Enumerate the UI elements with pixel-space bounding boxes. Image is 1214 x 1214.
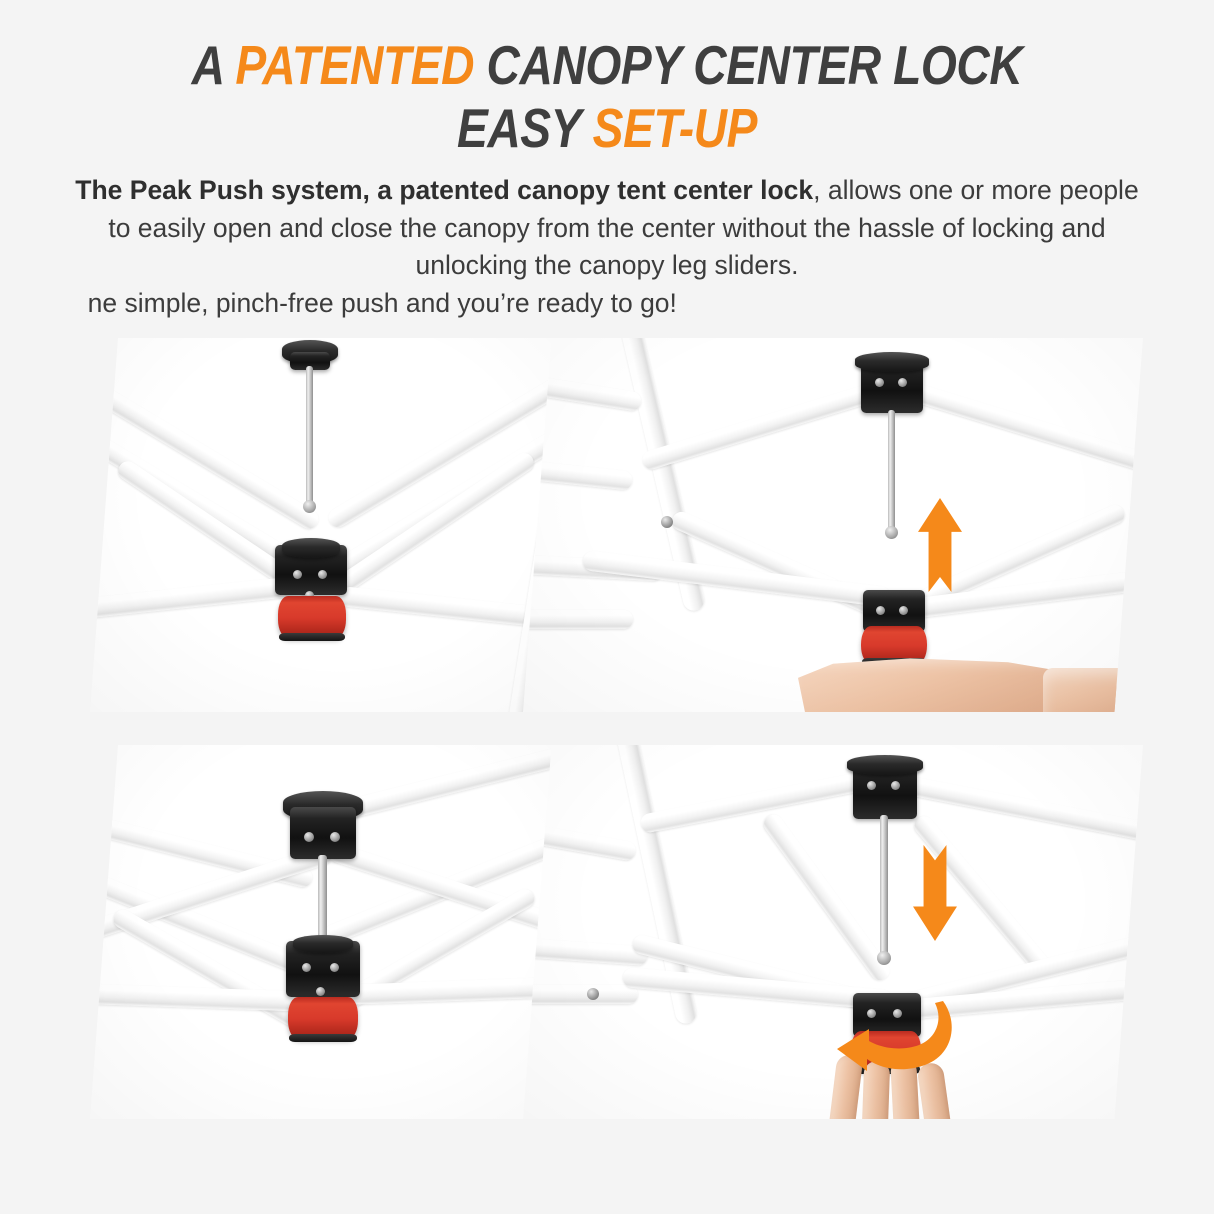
hand-wrist	[1043, 668, 1143, 712]
frame-tube	[90, 983, 305, 1012]
page-title: A PATENTED CANOPY CENTER LOCK EASY SET-U…	[0, 0, 1214, 156]
heading-highlight-setup: SET-UP	[593, 97, 757, 159]
heading-text-b: CANOPY CENTER LOCK	[474, 34, 1022, 96]
panel-4-scene	[523, 745, 1143, 1119]
heading-text-c: EASY	[457, 97, 593, 159]
panel-1-scene	[90, 338, 590, 712]
hub-bolt	[316, 987, 325, 996]
puck-base-rim	[279, 633, 345, 641]
center-lock-hub-top	[282, 538, 340, 558]
push-rod-tip	[885, 526, 898, 539]
frame-tube	[523, 985, 638, 1004]
red-slider-puck	[278, 596, 346, 638]
hub-bolt	[876, 606, 885, 615]
push-rod-tip	[303, 500, 316, 513]
hub-bolt	[898, 378, 907, 387]
peak-fitting-cap	[847, 755, 923, 775]
hub-bolt	[302, 963, 311, 972]
red-slider-puck	[288, 997, 358, 1039]
heading-highlight-patented: PATENTED	[235, 34, 474, 96]
heading-line-2: EASY SET-UP	[97, 101, 1117, 156]
push-rod-tip	[877, 951, 891, 965]
frame-joint-nub	[661, 516, 673, 528]
steel-push-rod	[888, 410, 895, 532]
hub-bolt	[891, 781, 900, 790]
steel-push-rod	[880, 815, 888, 957]
steel-push-rod	[306, 366, 313, 506]
hub-bolt	[318, 570, 327, 579]
panel-3-scene	[90, 745, 590, 1119]
hub-bolt	[293, 570, 302, 579]
center-lock-hub-top	[293, 935, 353, 953]
peak-fitting	[290, 807, 356, 859]
hub-bolt	[899, 606, 908, 615]
panel-2-push-up-center-lock	[523, 338, 1143, 712]
hub-bolt	[330, 963, 339, 972]
orange-rotation-arrow	[825, 985, 965, 1083]
heading-line-1: A PATENTED CANOPY CENTER LOCK	[97, 38, 1117, 93]
panel-1-canopy-frame-closed	[90, 338, 590, 712]
frame-tube	[890, 376, 1143, 479]
panel-3-canopy-frame-locked	[90, 745, 590, 1119]
frame-tube	[640, 377, 894, 471]
hub-bolt	[867, 781, 876, 790]
peak-fitting-cap	[855, 352, 929, 372]
puck-base-rim	[289, 1034, 357, 1042]
heading-text-a: A	[192, 34, 236, 96]
description-bold-lead: The Peak Push system, a patented canopy …	[75, 175, 813, 205]
hub-bolt	[304, 832, 314, 842]
hub-bolt	[330, 832, 340, 842]
product-photo-grid	[0, 330, 1214, 1130]
panel-4-pull-down-release-center-lock	[523, 745, 1143, 1119]
panel-2-scene	[523, 338, 1143, 712]
frame-joint-nub	[587, 988, 599, 1000]
frame-tube	[760, 811, 893, 984]
hub-bolt	[875, 378, 884, 387]
frame-tube	[523, 610, 633, 629]
frame-tube	[523, 935, 648, 966]
